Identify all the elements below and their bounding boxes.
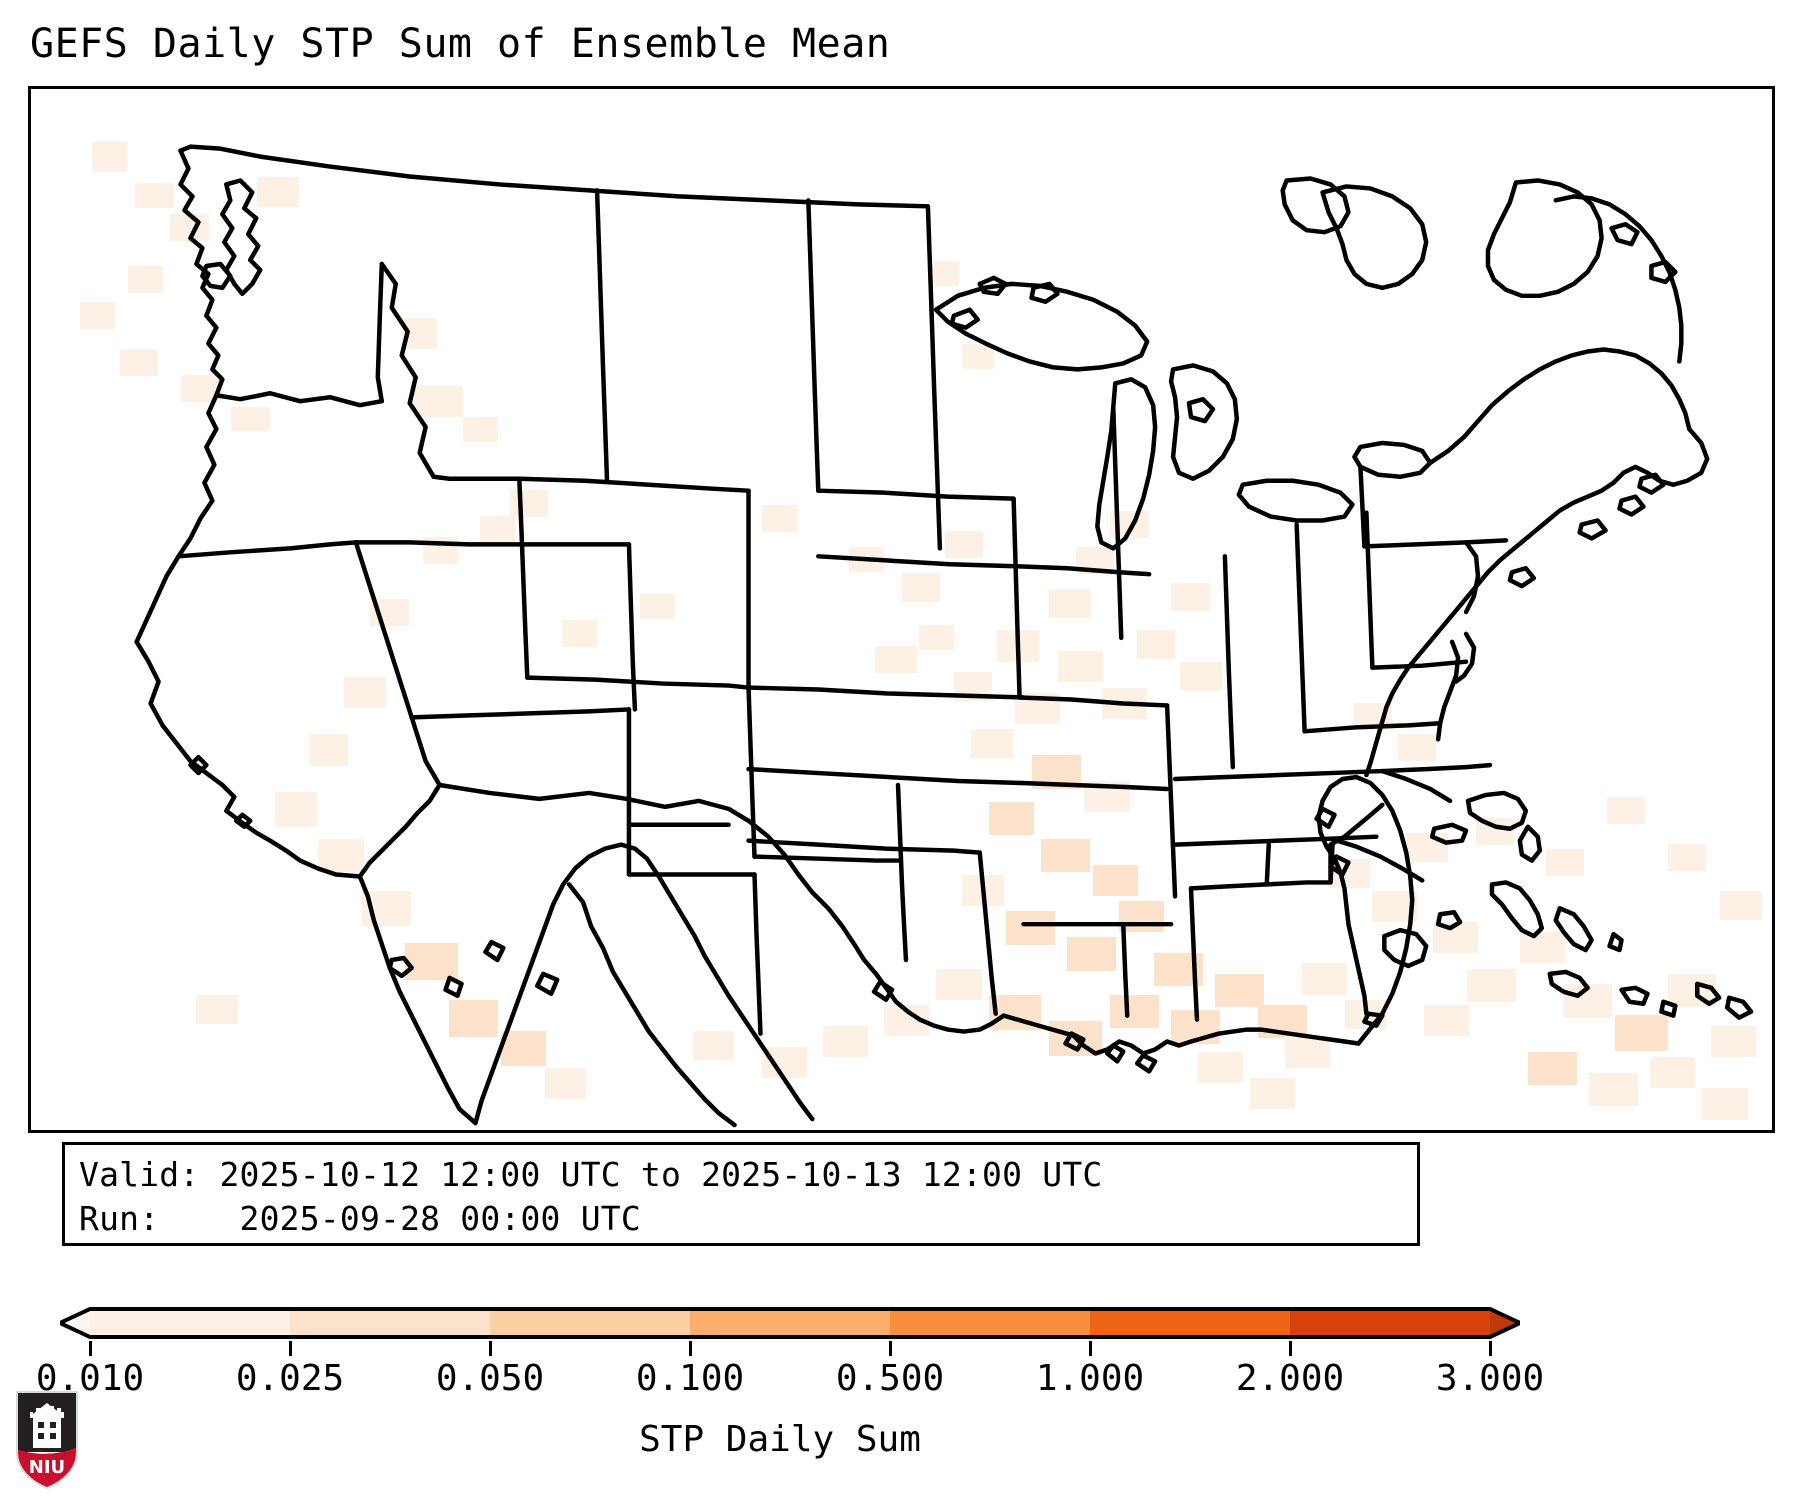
valid-time-line: Valid: 2025-10-12 12:00 UTC to 2025-10-1… (79, 1153, 1403, 1197)
colorbar-axis-title: STP Daily Sum (0, 1418, 1560, 1462)
colorbar-tick (689, 1341, 692, 1356)
colorbar-tick (289, 1341, 292, 1356)
colorbar-tick-label: 2.000 (1236, 1358, 1344, 1400)
colorbar (60, 1305, 1520, 1341)
logo-text: NIU (29, 1457, 65, 1478)
colorbar-tick-labels: 0.0100.0250.0500.1000.5001.0002.0003.000 (0, 1358, 1803, 1404)
map-geography (31, 89, 1772, 1130)
colorbar-band (1290, 1309, 1491, 1337)
colorbar-tick-label: 0.100 (636, 1358, 744, 1400)
gefs-stp-map-figure: GEFS Daily STP Sum of Ensemble Mean (0, 0, 1803, 1500)
run-time-line: Run: 2025-09-28 00:00 UTC (79, 1197, 1403, 1241)
colorbar-tick (889, 1341, 892, 1356)
colorbar-tick (1089, 1341, 1092, 1356)
colorbar-band (90, 1309, 291, 1337)
map-panel (28, 86, 1775, 1133)
colorbar-band (1090, 1309, 1291, 1337)
colorbar-tick (89, 1341, 92, 1356)
colorbar-band (490, 1309, 691, 1337)
colorbar-tick-label: 0.500 (836, 1358, 944, 1400)
colorbar-band (890, 1309, 1091, 1337)
colorbar-band (690, 1309, 891, 1337)
colorbar-tick-label: 0.050 (436, 1358, 544, 1400)
colorbar-tick-label: 0.025 (236, 1358, 344, 1400)
colorbar-tick-label: 3.000 (1436, 1358, 1544, 1400)
page-title: GEFS Daily STP Sum of Ensemble Mean (30, 22, 890, 66)
colorbar-tick (1489, 1341, 1492, 1356)
colorbar-tick (1289, 1341, 1292, 1356)
colorbar-ticks (60, 1341, 1520, 1357)
colorbar-tick-label: 1.000 (1036, 1358, 1144, 1400)
colorbar-gradient (60, 1305, 1520, 1341)
niu-logo: NIU (14, 1390, 80, 1490)
colorbar-tick (489, 1341, 492, 1356)
valid-run-info-box: Valid: 2025-10-12 12:00 UTC to 2025-10-1… (62, 1142, 1420, 1246)
colorbar-band (290, 1309, 491, 1337)
